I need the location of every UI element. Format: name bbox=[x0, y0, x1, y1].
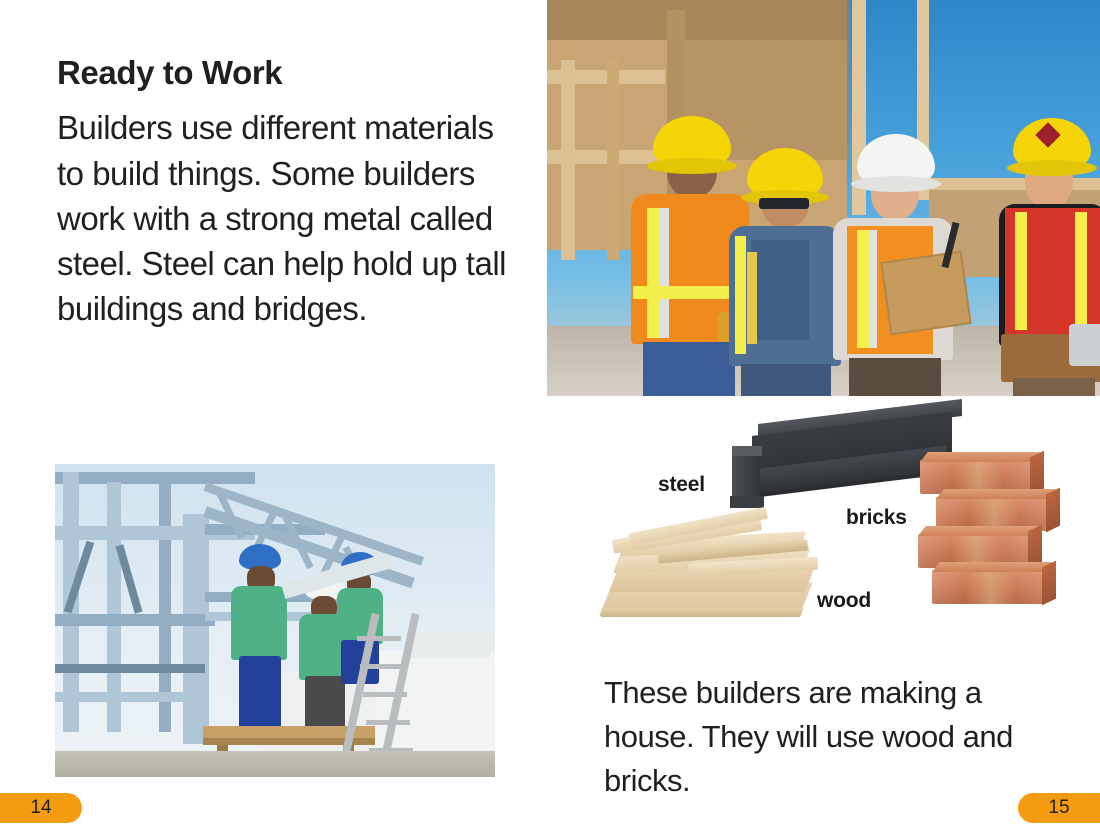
worker-pants bbox=[741, 364, 831, 396]
brick-top bbox=[932, 562, 1052, 572]
vest-stripe-silver bbox=[869, 230, 877, 348]
worker-white-hat-clipboard bbox=[827, 126, 957, 396]
photo-steel-frame-house bbox=[55, 464, 495, 777]
beam-end-cap-top bbox=[732, 446, 762, 456]
brick-side bbox=[1042, 561, 1056, 606]
ladder-rung bbox=[366, 720, 410, 725]
ladder-rung bbox=[363, 692, 407, 697]
book-page-spread: Ready to Work Builders use different mat… bbox=[0, 0, 1100, 837]
body-paragraph: Builders use different materials to buil… bbox=[57, 105, 507, 331]
worker-green-shirt-left bbox=[231, 544, 287, 734]
vest-stripe-silver bbox=[660, 208, 669, 338]
material-label-bricks: bricks bbox=[846, 506, 907, 530]
brick-top bbox=[920, 452, 1040, 462]
material-label-steel: steel bbox=[658, 473, 705, 497]
steel-beam-horizontal bbox=[55, 614, 215, 626]
overalls-bib bbox=[751, 240, 809, 340]
worker-shirt bbox=[231, 586, 287, 660]
left-text-column: Ready to Work Builders use different mat… bbox=[57, 55, 507, 331]
photo-construction-crew bbox=[547, 0, 1100, 396]
wood-stud bbox=[561, 60, 575, 260]
beam-end-cap-bottom bbox=[730, 496, 764, 508]
worker-pants bbox=[849, 358, 941, 396]
overall-strap bbox=[747, 252, 757, 344]
photo-caption: These builders are making a house. They … bbox=[604, 671, 1074, 803]
ladder-rung bbox=[360, 664, 404, 669]
vest-stripe bbox=[1015, 212, 1027, 330]
safety-glasses bbox=[759, 198, 809, 209]
worker-pants bbox=[1013, 378, 1095, 396]
ground-surface bbox=[55, 751, 495, 777]
page-number-right: 15 bbox=[1018, 793, 1100, 823]
brick-top bbox=[936, 489, 1056, 499]
page-number-left: 14 bbox=[0, 793, 82, 823]
steel-beam-horizontal bbox=[55, 692, 207, 702]
ladder bbox=[351, 612, 421, 772]
vest-stripe bbox=[857, 230, 869, 348]
brick-side bbox=[1046, 488, 1060, 533]
wood-sheet-edge bbox=[600, 608, 804, 617]
vest-stripe bbox=[1075, 212, 1087, 330]
worker-red-vest-toolbelt bbox=[999, 96, 1100, 396]
wood-stud bbox=[607, 60, 619, 260]
hard-hat-brim bbox=[1007, 160, 1097, 176]
hard-hat-brim bbox=[647, 158, 737, 174]
ladder-rung bbox=[357, 636, 401, 641]
worker-pants bbox=[239, 656, 281, 736]
brick-face bbox=[932, 570, 1044, 604]
brick bbox=[932, 570, 1044, 604]
steel-beam-horizontal bbox=[55, 472, 255, 484]
material-label-wood: wood bbox=[817, 589, 871, 613]
hard-hat-brim bbox=[851, 176, 941, 192]
brick-top bbox=[918, 526, 1038, 536]
steel-column-main bbox=[183, 514, 209, 744]
vest-stripe bbox=[735, 236, 746, 354]
steel-beam-horizontal bbox=[55, 664, 205, 673]
vest-stripe bbox=[647, 208, 660, 338]
wood-planks-illustration bbox=[598, 516, 838, 636]
worker-pants bbox=[643, 342, 735, 396]
work-glove bbox=[1069, 324, 1100, 366]
page-heading: Ready to Work bbox=[57, 55, 507, 91]
clipboard bbox=[880, 251, 972, 336]
brick-stack-illustration bbox=[918, 452, 1058, 600]
